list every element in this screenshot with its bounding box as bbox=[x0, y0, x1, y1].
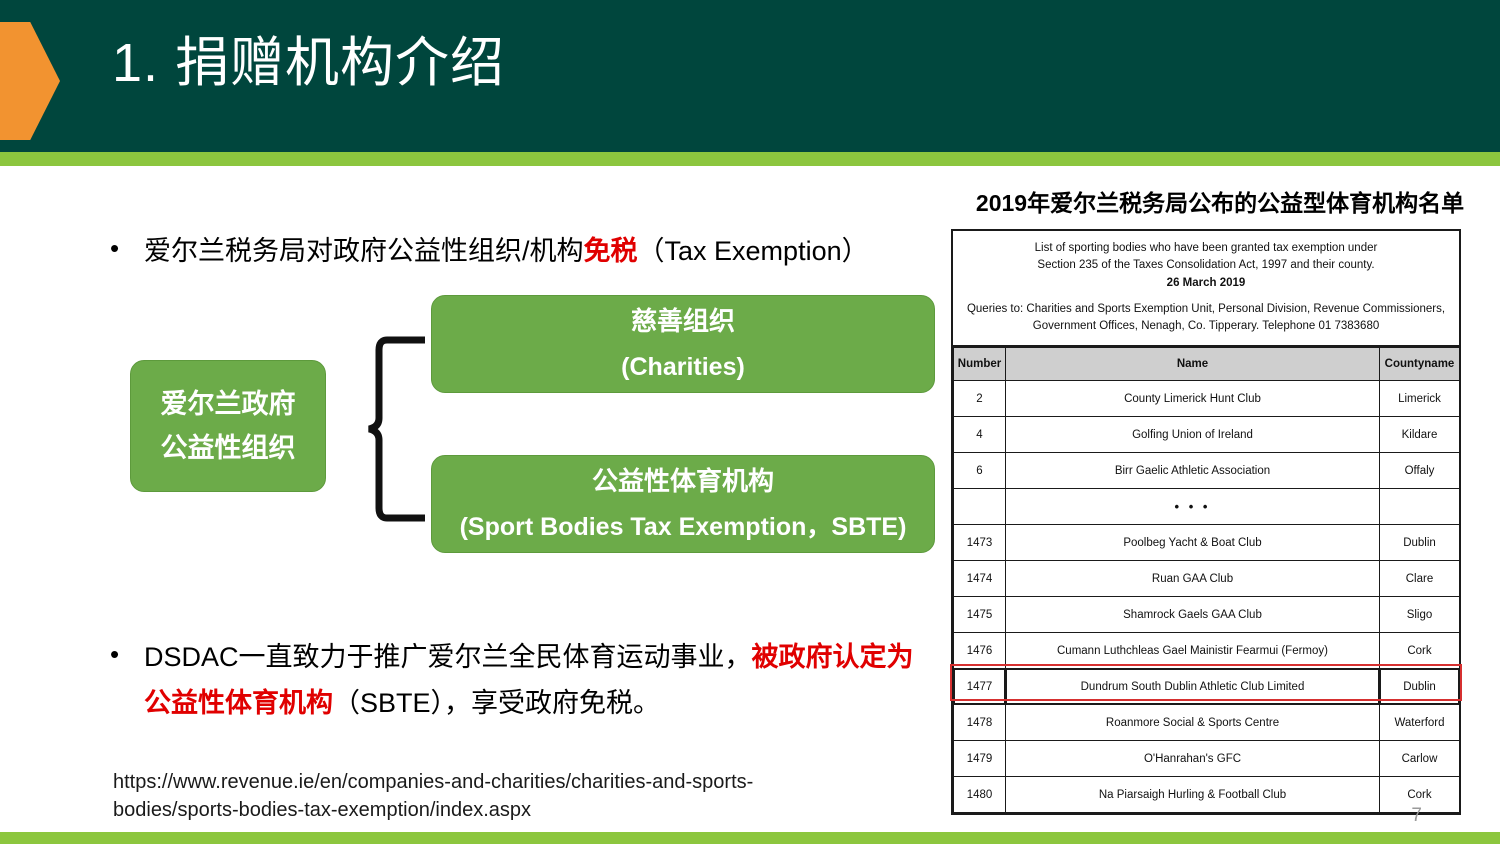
cell-countyname: Carlow bbox=[1380, 741, 1460, 777]
registry-note-date: 26 March 2019 bbox=[963, 275, 1449, 292]
table-row: 1477Dundrum South Dublin Athletic Club L… bbox=[954, 669, 1460, 705]
diagram-root-line2: 公益性组织 bbox=[161, 426, 296, 470]
registry-note-line2: Section 235 of the Taxes Consolidation A… bbox=[1037, 259, 1374, 271]
registry-note-line3: Queries to: Charities and Sports Exempti… bbox=[967, 303, 1445, 315]
registry-note-line4: Government Offices, Nenagh, Co. Tipperar… bbox=[1033, 320, 1380, 332]
column-header-number: Number bbox=[954, 348, 1006, 381]
cell-name: Shamrock Gaels GAA Club bbox=[1006, 597, 1380, 633]
footer-green-accent-bar bbox=[0, 832, 1500, 844]
registry-note-line1: List of sporting bodies who have been gr… bbox=[1035, 242, 1378, 254]
bullet-1-emphasis: 免税 bbox=[584, 236, 638, 266]
table-row: 1475Shamrock Gaels GAA ClubSligo bbox=[954, 597, 1460, 633]
diagram-root-box: 爱尔兰政府 公益性组织 bbox=[130, 360, 326, 492]
table-row: 6Birr Gaelic Athletic AssociationOffaly bbox=[954, 453, 1460, 489]
cell-countyname bbox=[1380, 489, 1460, 525]
cell-countyname: Dublin bbox=[1380, 525, 1460, 561]
table-row: 2County Limerick Hunt ClubLimerick bbox=[954, 381, 1460, 417]
cell-name: Ruan GAA Club bbox=[1006, 561, 1380, 597]
cell-name: • • • bbox=[1006, 489, 1380, 525]
cell-number: 6 bbox=[954, 453, 1006, 489]
cell-number: 1479 bbox=[954, 741, 1006, 777]
bullet-text-2: DSDAC一直致力于推广爱尔兰全民体育运动事业，被政府认定为公益性体育机构（SB… bbox=[144, 634, 930, 726]
cell-number bbox=[954, 489, 1006, 525]
cell-number: 1477 bbox=[954, 669, 1006, 705]
table-row: • • • bbox=[954, 489, 1460, 525]
bullet-1-segment-plain-b: （Tax Exemption） bbox=[638, 236, 869, 266]
cell-countyname: Clare bbox=[1380, 561, 1460, 597]
cell-countyname: Offaly bbox=[1380, 453, 1460, 489]
diagram-charities-line2: (Charities) bbox=[621, 344, 745, 390]
registry-table-body: 2County Limerick Hunt ClubLimerick4Golfi… bbox=[954, 381, 1460, 813]
bullet-text-1: 爱尔兰税务局对政府公益性组织/机构免税（Tax Exemption） bbox=[144, 228, 869, 274]
bullet-2-segment-plain-b: （SBTE），享受政府免税。 bbox=[333, 688, 660, 718]
table-row: 1473Poolbeg Yacht & Boat ClubDublin bbox=[954, 525, 1460, 561]
table-row: 1478Roanmore Social & Sports CentreWater… bbox=[954, 705, 1460, 741]
cell-countyname: Sligo bbox=[1380, 597, 1460, 633]
bullet-item-2: • DSDAC一直致力于推广爱尔兰全民体育运动事业，被政府认定为公益性体育机构（… bbox=[110, 634, 930, 726]
cell-name: Roanmore Social & Sports Centre bbox=[1006, 705, 1380, 741]
registry-title: 2019年爱尔兰税务局公布的公益型体育机构名单 bbox=[965, 184, 1475, 218]
bullet-marker: • bbox=[110, 634, 144, 674]
cell-number: 1480 bbox=[954, 777, 1006, 813]
page-number: 7 bbox=[1411, 805, 1422, 827]
table-row: 1474Ruan GAA ClubClare bbox=[954, 561, 1460, 597]
bullet-item-1: • 爱尔兰税务局对政府公益性组织/机构免税（Tax Exemption） bbox=[110, 228, 940, 274]
cell-name: Golfing Union of Ireland bbox=[1006, 417, 1380, 453]
registry-note-spacer bbox=[963, 292, 1449, 301]
source-url-link[interactable]: https://www.revenue.ie/en/companies-and-… bbox=[113, 768, 813, 824]
cell-name: Poolbeg Yacht & Boat Club bbox=[1006, 525, 1380, 561]
bullet-marker: • bbox=[110, 228, 144, 268]
cell-countyname: Limerick bbox=[1380, 381, 1460, 417]
registry-note: List of sporting bodies who have been gr… bbox=[953, 231, 1459, 347]
cell-name: O'Hanrahan's GFC bbox=[1006, 741, 1380, 777]
registry-table: Number Name Countyname 2County Limerick … bbox=[953, 347, 1460, 813]
cell-name: Cumann Luthchleas Gael Mainistir Fearmui… bbox=[1006, 633, 1380, 669]
registry-table-container: List of sporting bodies who have been gr… bbox=[951, 229, 1461, 815]
cell-number: 1475 bbox=[954, 597, 1006, 633]
table-header-row: Number Name Countyname bbox=[954, 348, 1460, 381]
cell-name: County Limerick Hunt Club bbox=[1006, 381, 1380, 417]
page-title: 1. 捐赠机构介绍 bbox=[112, 36, 505, 90]
table-row: 1476Cumann Luthchleas Gael Mainistir Fea… bbox=[954, 633, 1460, 669]
table-row: 4Golfing Union of IrelandKildare bbox=[954, 417, 1460, 453]
diagram-sbte-line1: 公益性体育机构 bbox=[592, 458, 774, 504]
cell-number: 1478 bbox=[954, 705, 1006, 741]
cell-countyname: Kildare bbox=[1380, 417, 1460, 453]
cell-number: 1473 bbox=[954, 525, 1006, 561]
cell-countyname: Dublin bbox=[1380, 669, 1460, 705]
cell-name: Birr Gaelic Athletic Association bbox=[1006, 453, 1380, 489]
diagram-root-line1: 爱尔兰政府 bbox=[161, 382, 296, 426]
diagram-charities-line1: 慈善组织 bbox=[631, 298, 735, 344]
bullet-2-segment-plain-a: DSDAC一直致力于推广爱尔兰全民体育运动事业， bbox=[144, 642, 752, 672]
curly-brace-icon bbox=[365, 336, 425, 522]
cell-number: 1474 bbox=[954, 561, 1006, 597]
bullet-1-segment-plain-a: 爱尔兰税务局对政府公益性组织/机构 bbox=[144, 236, 584, 266]
table-row: 1479O'Hanrahan's GFCCarlow bbox=[954, 741, 1460, 777]
cell-name: Na Piarsaigh Hurling & Football Club bbox=[1006, 777, 1380, 813]
cell-number: 1476 bbox=[954, 633, 1006, 669]
table-row: 1480Na Piarsaigh Hurling & Football Club… bbox=[954, 777, 1460, 813]
diagram-branch-sbte-box: 公益性体育机构 (Sport Bodies Tax Exemption，SBTE… bbox=[431, 455, 935, 553]
diagram-branch-charities-box: 慈善组织 (Charities) bbox=[431, 295, 935, 393]
cell-number: 4 bbox=[954, 417, 1006, 453]
cell-name: Dundrum South Dublin Athletic Club Limit… bbox=[1006, 669, 1380, 705]
diagram-sbte-line2: (Sport Bodies Tax Exemption，SBTE) bbox=[460, 504, 907, 550]
cell-countyname: Cork bbox=[1380, 633, 1460, 669]
cell-countyname: Waterford bbox=[1380, 705, 1460, 741]
cell-number: 2 bbox=[954, 381, 1006, 417]
header-green-accent-bar bbox=[0, 152, 1500, 166]
column-header-countyname: Countyname bbox=[1380, 348, 1460, 381]
column-header-name: Name bbox=[1006, 348, 1380, 381]
